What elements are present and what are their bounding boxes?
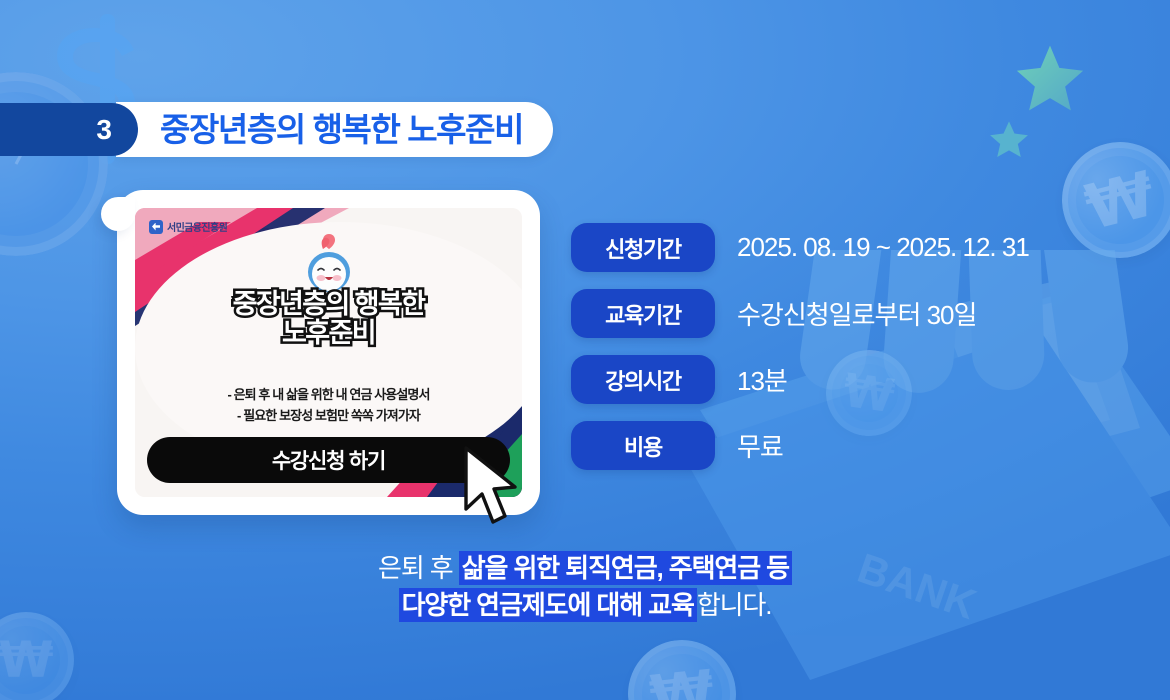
thumbnail-title: 중장년층의 행복한 노후준비 — [135, 290, 522, 348]
info-label-badge: 신청기간 — [571, 223, 715, 272]
enroll-button[interactable]: 수강신청 하기 — [147, 437, 510, 483]
star-icon — [1014, 42, 1086, 114]
info-label: 강의시간 — [605, 364, 681, 396]
won-coin-icon — [0, 612, 74, 700]
section-number: 3 — [96, 116, 112, 144]
course-card[interactable]: 서민금융진흥원 중장년층의 행복한 노후준비 — [117, 190, 540, 515]
description-line-1: 은퇴 후 삶을 위한 퇴직연금, 주택연금 등 — [0, 550, 1170, 587]
enroll-button-label: 수강신청 하기 — [272, 445, 385, 475]
star-icon — [988, 118, 1030, 160]
info-row-application-period: 신청기간 2025. 08. 19 ~ 2025. 12. 31 — [571, 223, 1029, 272]
section-number-tab: 3 — [0, 103, 138, 156]
info-label-badge: 비용 — [571, 421, 715, 470]
description-plain-2: 합니다. — [697, 590, 772, 620]
thumbnail-title-line-1: 중장년층의 행복한 — [135, 290, 522, 319]
logo-mark-icon — [149, 220, 163, 234]
logo-text: 서민금융진흥원 — [167, 219, 227, 234]
description-highlight-1: 삶을 위한 퇴직연금, 주택연금 등 — [459, 551, 792, 585]
info-value: 2025. 08. 19 ~ 2025. 12. 31 — [737, 232, 1029, 263]
thumbnail-bullets: - 은퇴 후 내 삶을 위한 내 연금 사용설명서 - 필요한 보장성 보험만 … — [135, 384, 522, 427]
info-label-badge: 강의시간 — [571, 355, 715, 404]
description-line-2: 다양한 연금제도에 대해 교육합니다. — [0, 587, 1170, 624]
organization-logo: 서민금융진흥원 — [149, 219, 227, 234]
info-label-badge: 교육기간 — [571, 289, 715, 338]
info-row-lecture-time: 강의시간 13분 — [571, 355, 1029, 404]
thumbnail-title-line-2: 노후준비 — [135, 319, 522, 348]
info-row-cost: 비용 무료 — [571, 421, 1029, 470]
poster-stage: won-coin-icon BANK — [0, 0, 1170, 700]
info-label: 비용 — [624, 430, 662, 462]
description-highlight-2: 다양한 연금제도에 대해 교육 — [399, 588, 697, 622]
course-description: 은퇴 후 삶을 위한 퇴직연금, 주택연금 등 다양한 연금제도에 대해 교육합… — [0, 550, 1170, 624]
info-value: 수강신청일로부터 30일 — [737, 295, 976, 332]
page-title: 중장년층의 행복한 노후준비 — [160, 113, 523, 146]
info-value: 13분 — [737, 361, 787, 398]
description-plain-1: 은퇴 후 — [378, 553, 459, 583]
info-row-education-period: 교육기간 수강신청일로부터 30일 — [571, 289, 1029, 338]
info-label: 교육기간 — [605, 298, 681, 330]
thumbnail-bullet-2: - 필요한 보장성 보험만 쏙쏙 가져가자 — [135, 405, 522, 426]
mascot-character-icon — [297, 232, 361, 296]
mouse-cursor-icon — [460, 445, 522, 529]
section-title-pill: 중장년층의 행복한 노후준비 — [116, 102, 553, 157]
info-label: 신청기간 — [605, 232, 681, 264]
thumbnail-bullet-1: - 은퇴 후 내 삶을 위한 내 연금 사용설명서 — [135, 384, 522, 405]
course-info-list: 신청기간 2025. 08. 19 ~ 2025. 12. 31 교육기간 수강… — [571, 223, 1029, 470]
info-value: 무료 — [737, 427, 783, 464]
